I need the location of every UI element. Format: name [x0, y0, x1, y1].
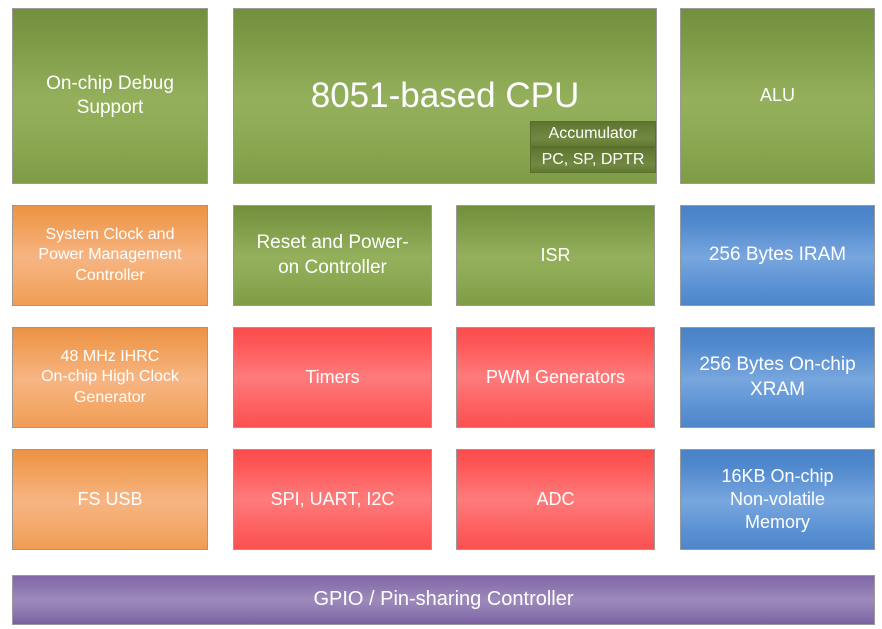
- block-on-chip-debug-support[interactable]: On-chip Debug Support: [12, 8, 208, 184]
- block-xram[interactable]: 256 Bytes On-chip XRAM: [680, 327, 875, 428]
- block-label: Reset and Power- on Controller: [256, 231, 408, 280]
- block-label: 8051-based CPU: [311, 74, 580, 119]
- block-label: FS USB: [77, 488, 142, 511]
- block-label: 256 Bytes On-chip XRAM: [699, 353, 855, 402]
- subblock-label: PC, SP, DPTR: [542, 150, 645, 170]
- block-spi-uart-i2c[interactable]: SPI, UART, I2C: [233, 449, 432, 550]
- block-iram[interactable]: 256 Bytes IRAM: [680, 205, 875, 306]
- block-label: ADC: [536, 488, 574, 511]
- block-label: GPIO / Pin-sharing Controller: [313, 587, 573, 613]
- subblock-accumulator[interactable]: Accumulator: [530, 121, 656, 147]
- block-label: 48 MHz IHRC On-chip High Clock Generator: [41, 347, 179, 408]
- block-system-clock-power-management-controller[interactable]: System Clock and Power Management Contro…: [12, 205, 208, 306]
- block-label: SPI, UART, I2C: [271, 488, 395, 511]
- block-label: Timers: [305, 366, 359, 389]
- block-timers[interactable]: Timers: [233, 327, 432, 428]
- block-label: On-chip Debug Support: [46, 72, 174, 121]
- block-label: ISR: [540, 244, 570, 267]
- block-adc[interactable]: ADC: [456, 449, 655, 550]
- block-label: PWM Generators: [486, 366, 625, 389]
- block-label: 256 Bytes IRAM: [709, 243, 846, 267]
- block-label: ALU: [760, 84, 795, 107]
- block-label: 16KB On-chip Non-volatile Memory: [721, 465, 833, 534]
- subblock-pc-sp-dptr[interactable]: PC, SP, DPTR: [530, 147, 656, 173]
- block-pwm-generators[interactable]: PWM Generators: [456, 327, 655, 428]
- block-alu[interactable]: ALU: [680, 8, 875, 184]
- block-cpu[interactable]: 8051-based CPU Accumulator PC, SP, DPTR: [233, 8, 657, 184]
- block-diagram: On-chip Debug Support 8051-based CPU Acc…: [0, 0, 882, 629]
- block-reset-power-on-controller[interactable]: Reset and Power- on Controller: [233, 205, 432, 306]
- subblock-label: Accumulator: [549, 124, 638, 144]
- block-gpio-pin-sharing-controller[interactable]: GPIO / Pin-sharing Controller: [12, 575, 875, 625]
- block-non-volatile-memory[interactable]: 16KB On-chip Non-volatile Memory: [680, 449, 875, 550]
- block-fs-usb[interactable]: FS USB: [12, 449, 208, 550]
- block-label: System Clock and Power Management Contro…: [38, 225, 181, 286]
- block-ihrc-high-clock-generator[interactable]: 48 MHz IHRC On-chip High Clock Generator: [12, 327, 208, 428]
- block-isr[interactable]: ISR: [456, 205, 655, 306]
